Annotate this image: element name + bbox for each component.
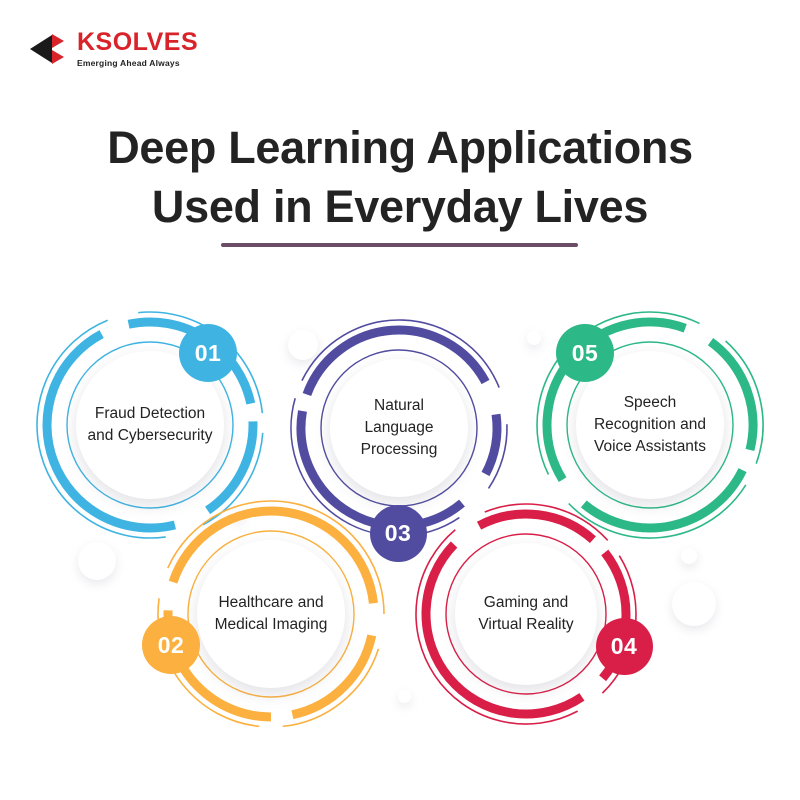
node-05[interactable]: Speech Recognition and Voice Assistants0… — [517, 292, 783, 558]
brand-tagline: Emerging Ahead Always — [77, 59, 198, 68]
node-badge-05[interactable]: 05 — [556, 324, 614, 382]
node-disc-02: Healthcare and Medical Imaging — [197, 540, 345, 688]
node-disc-04: Gaming and Virtual Reality — [455, 543, 597, 685]
page-title-line-1: Deep Learning Applications — [107, 122, 693, 173]
decorative-bubble — [672, 582, 716, 626]
node-badge-02[interactable]: 02 — [142, 616, 200, 674]
title-divider — [221, 243, 578, 247]
node-badge-04[interactable]: 04 — [596, 618, 653, 675]
node-disc-03: Natural Language Processing — [330, 359, 468, 497]
node-label-02: Healthcare and Medical Imaging — [197, 592, 345, 636]
node-label-05: Speech Recognition and Voice Assistants — [576, 392, 724, 458]
node-label-01: Fraud Detection and Cybersecurity — [76, 403, 224, 447]
page-title: Deep Learning Applications Used in Every… — [0, 118, 800, 237]
brand-name: KSOLVES — [77, 30, 198, 55]
node-label-04: Gaming and Virtual Reality — [455, 592, 597, 636]
brand-logo[interactable]: KSOLVES Emerging Ahead Always — [30, 30, 198, 68]
infographic-page: KSOLVES Emerging Ahead Always Deep Learn… — [0, 0, 800, 800]
node-badge-01[interactable]: 01 — [179, 324, 237, 382]
node-label-03: Natural Language Processing — [330, 395, 468, 461]
page-title-line-2: Used in Everyday Lives — [0, 177, 800, 236]
ksolves-triangles-icon — [30, 31, 70, 67]
